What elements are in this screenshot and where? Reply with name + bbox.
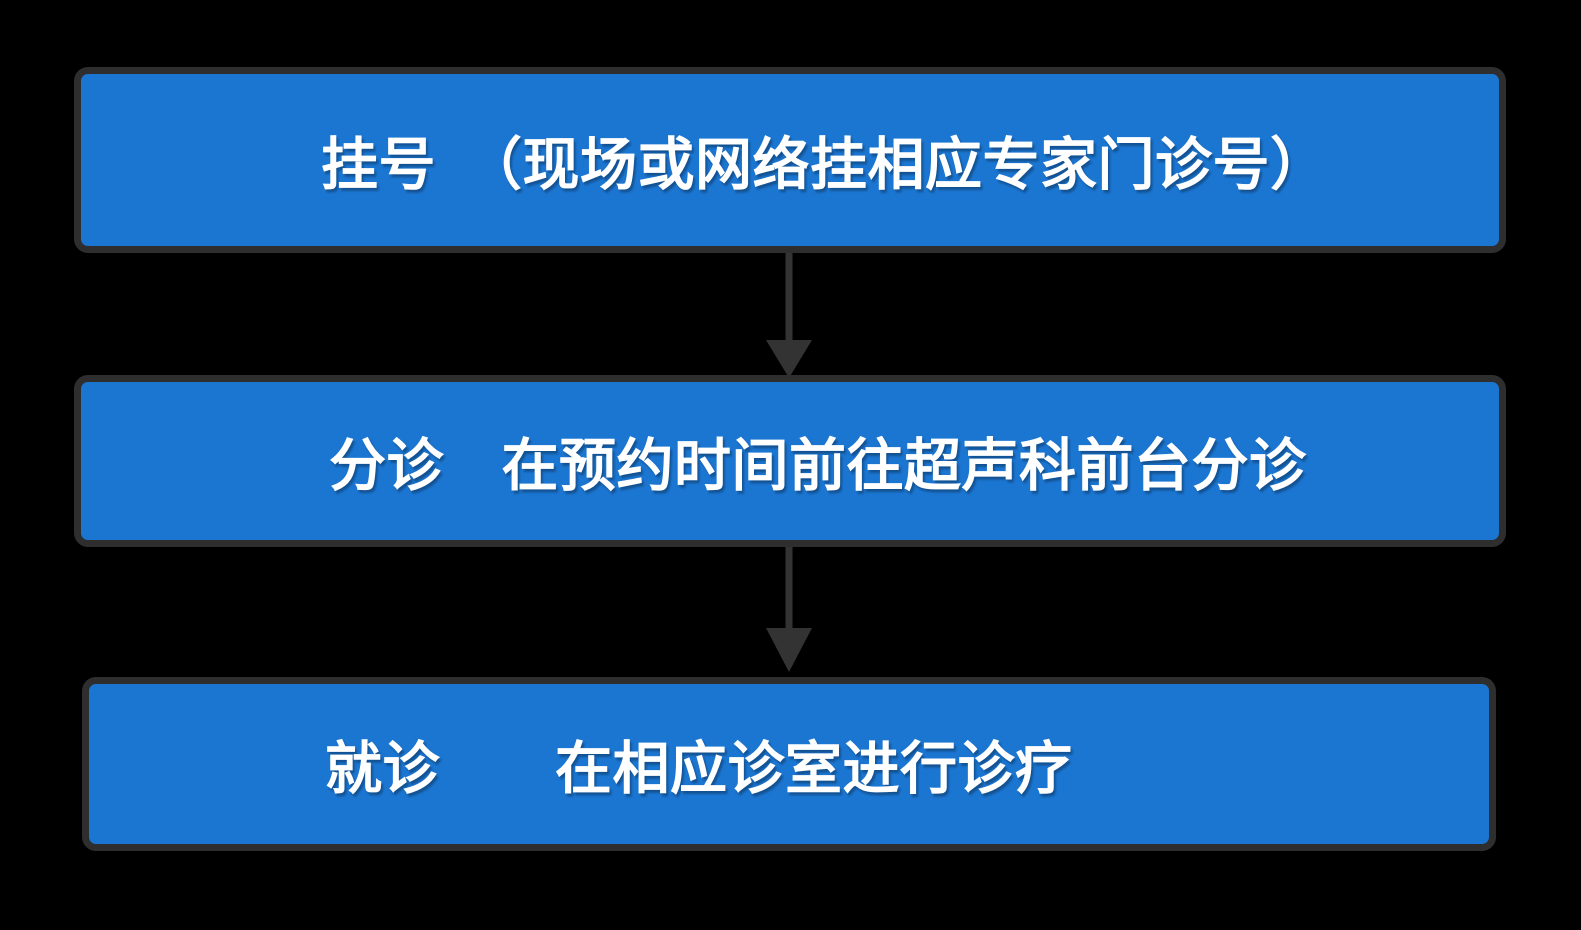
flowchart-canvas: 挂号 （现场或网络挂相应专家门诊号） 分诊 在预约时间前往超声科前台分诊 就诊 … (0, 0, 1581, 930)
flow-node-register[interactable]: 挂号 （现场或网络挂相应专家门诊号） (74, 67, 1506, 253)
flow-node-consult-label: 就诊 在相应诊室进行诊疗 (89, 723, 1073, 805)
flow-node-triage[interactable]: 分诊 在预约时间前往超声科前台分诊 (74, 375, 1506, 547)
edge-register-triage (766, 253, 812, 378)
flow-node-register-label: 挂号 （现场或网络挂相应专家门诊号） (81, 119, 1328, 201)
edge-triage-consult (766, 547, 812, 672)
flow-node-triage-label: 分诊 在预约时间前往超声科前台分诊 (81, 420, 1307, 502)
flow-node-consult[interactable]: 就诊 在相应诊室进行诊疗 (82, 677, 1496, 851)
